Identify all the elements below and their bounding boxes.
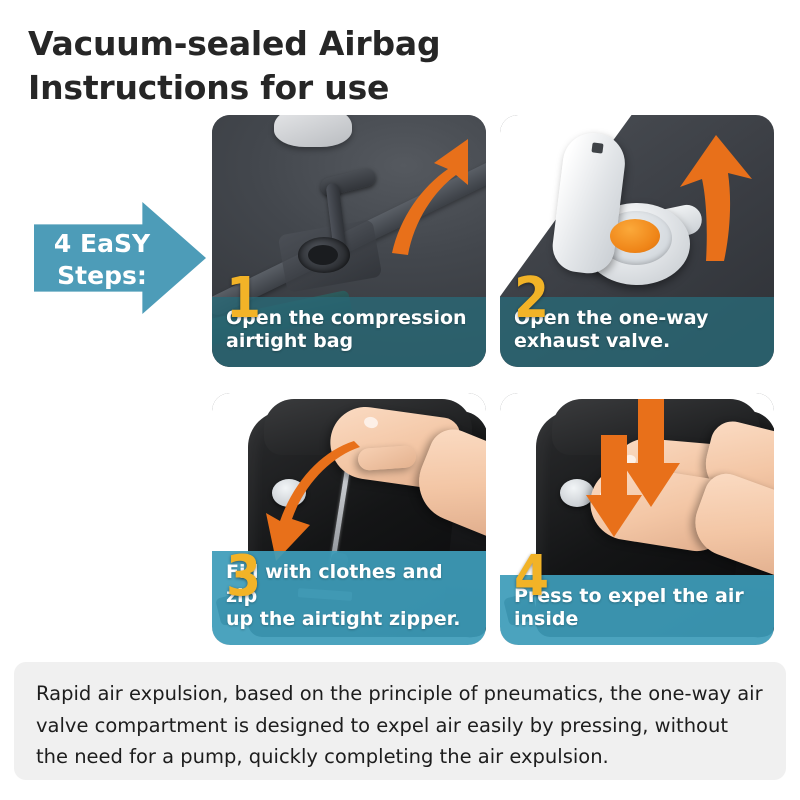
valve-cap-partial — [274, 115, 352, 147]
step-panel-3[interactable]: 3 Fill with clothes and zip up the airti… — [212, 393, 486, 645]
down-arrow-icon-lower — [584, 435, 644, 541]
step-panel-1[interactable]: 1 Open the compression airtight bag — [212, 115, 486, 367]
step-3-number: 3 — [226, 553, 261, 601]
page-title: Vacuum-sealed Airbag Instructions for us… — [28, 22, 548, 110]
curved-up-right-arrow-icon — [364, 129, 484, 259]
description-box: Rapid air expulsion, based on the princi… — [14, 662, 786, 780]
steps-badge-label: 4 EaSY Steps: — [46, 228, 158, 291]
step-2-caption-line-1: Open the one-way — [514, 307, 760, 331]
page-title-line-2: Instructions for use — [28, 66, 548, 110]
step-3-caption-line-2: up the airtight zipper. — [226, 608, 472, 632]
steps-badge: 4 EaSY Steps: — [34, 202, 206, 314]
valve-flap-hole — [591, 142, 603, 153]
step-2-caption-line-2: exhaust valve. — [514, 330, 760, 354]
step-1-number: 1 — [226, 275, 261, 323]
description-text: Rapid air expulsion, based on the princi… — [36, 678, 764, 773]
step-4-number: 4 — [514, 553, 549, 601]
step-2-number: 2 — [514, 275, 549, 323]
step-panel-4[interactable]: 4 Press to expel the air inside — [500, 393, 774, 645]
steps-badge-line-2: Steps: — [46, 260, 158, 292]
step-4-caption-line-1: Press to expel the air — [514, 585, 760, 609]
step-1-caption-line-1: Open the compression — [226, 307, 472, 331]
valve-orange-membrane — [610, 219, 660, 253]
step-1-caption-line-2: airtight bag — [226, 330, 472, 354]
up-arrow-icon — [662, 131, 766, 263]
step-4-caption-line-2: inside — [514, 608, 760, 632]
page-title-line-1: Vacuum-sealed Airbag — [28, 22, 548, 66]
step-3-caption-line-1: Fill with clothes and zip — [226, 561, 472, 608]
zipper-slider-hole — [308, 245, 338, 265]
steps-badge-line-1: 4 EaSY — [46, 228, 158, 260]
step-panel-2[interactable]: 2 Open the one-way exhaust valve. — [500, 115, 774, 367]
